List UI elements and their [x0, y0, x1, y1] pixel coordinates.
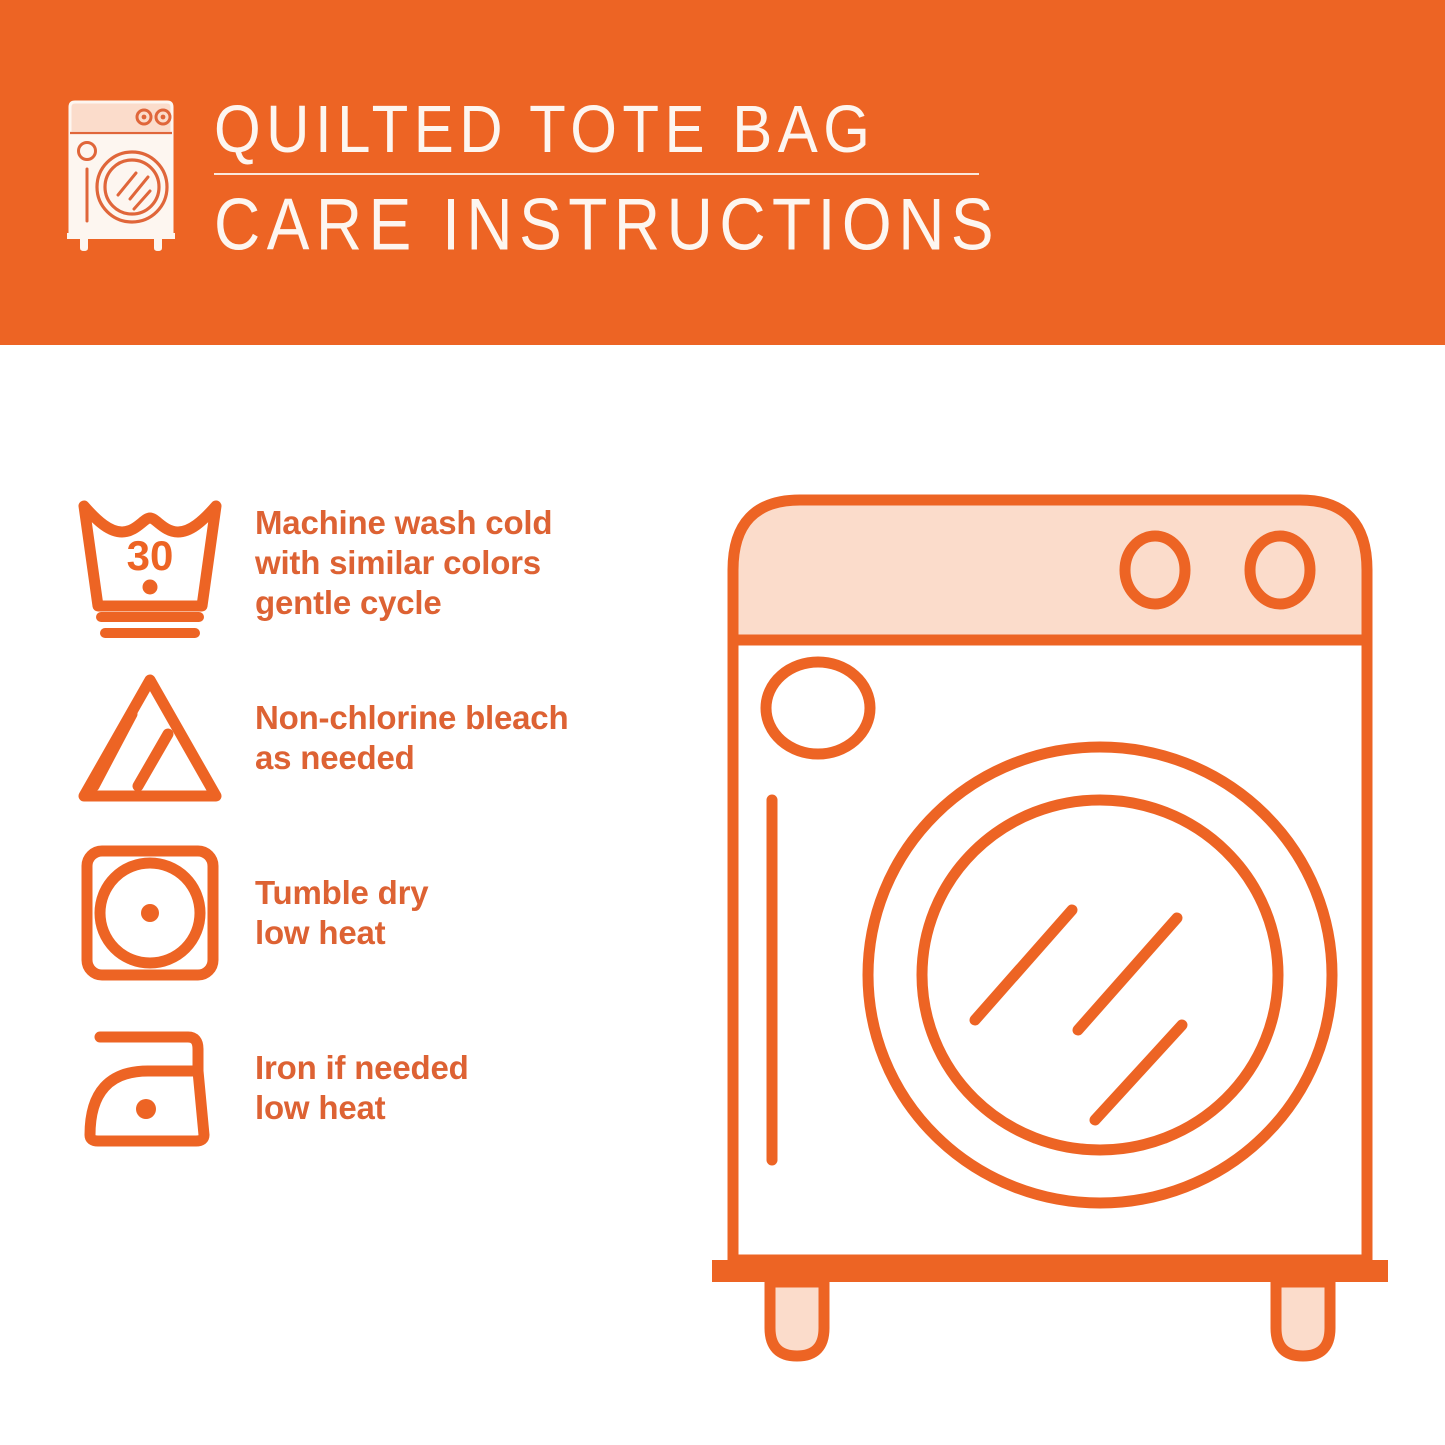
care-instruction-label: Non-chlorine bleach as needed — [255, 698, 682, 778]
header-band: QUILTED TOTE BAG CARE INSTRUCTIONS — [0, 0, 1445, 345]
title-divider — [214, 173, 979, 175]
header-titles: QUILTED TOTE BAG CARE INSTRUCTIONS — [214, 95, 1000, 253]
page-title: QUILTED TOTE BAG — [214, 95, 1000, 164]
care-label-line: Tumble dry — [255, 873, 682, 913]
care-instruction-label: Machine wash cold with similar colors ge… — [255, 503, 682, 623]
care-label-wrap: Non-chlorine bleach as needed — [237, 698, 682, 778]
care-instruction-label: Iron if needed low heat — [255, 1048, 682, 1128]
care-row: Non-chlorine bleach as needed — [62, 650, 682, 825]
machine-leg — [1276, 1282, 1330, 1356]
iron-low-heat-icon — [62, 1023, 237, 1153]
start-button-icon — [766, 662, 870, 754]
front-load-washing-machine-illustration — [700, 460, 1400, 1380]
care-instruction-label: Tumble dry low heat — [255, 873, 682, 953]
care-label-line: with similar colors — [255, 543, 682, 583]
care-row: Iron if needed low heat — [62, 1000, 682, 1175]
tumble-dry-low-heat-icon — [62, 843, 237, 983]
machine-wash-30-gentle-icon: 30 — [62, 488, 237, 638]
control-panel — [733, 500, 1367, 640]
header-content: QUILTED TOTE BAG CARE INSTRUCTIONS — [60, 95, 1000, 253]
care-label-wrap: Tumble dry low heat — [237, 873, 682, 953]
care-label-line: gentle cycle — [255, 583, 682, 623]
wash-temperature-value: 30 — [127, 532, 174, 579]
care-row: Tumble dry low heat — [62, 825, 682, 1000]
washing-machine-icon — [60, 99, 182, 251]
door-inner-ring — [922, 800, 1278, 1150]
door-outer-ring — [868, 747, 1332, 1203]
care-label-line: Non-chlorine bleach — [255, 698, 682, 738]
care-label-line: low heat — [255, 913, 682, 953]
content-area: 30 Machine wash cold with similar colors… — [0, 345, 1445, 1445]
care-label-wrap: Machine wash cold with similar colors ge… — [237, 503, 682, 623]
non-chlorine-bleach-triangle-icon — [62, 668, 237, 808]
care-label-line: Iron if needed — [255, 1048, 682, 1088]
page-subtitle: CARE INSTRUCTIONS — [214, 187, 1000, 262]
door-shine-line — [1095, 1025, 1182, 1120]
care-label-line: as needed — [255, 738, 682, 778]
care-label-line: Machine wash cold — [255, 503, 682, 543]
door-shine-line — [1078, 918, 1177, 1030]
care-row: 30 Machine wash cold with similar colors… — [62, 475, 682, 650]
care-label-line: low heat — [255, 1088, 682, 1128]
door-shine-line — [975, 910, 1072, 1020]
care-label-wrap: Iron if needed low heat — [237, 1048, 682, 1128]
care-instructions-list: 30 Machine wash cold with similar colors… — [62, 475, 682, 1175]
machine-leg — [770, 1282, 824, 1356]
